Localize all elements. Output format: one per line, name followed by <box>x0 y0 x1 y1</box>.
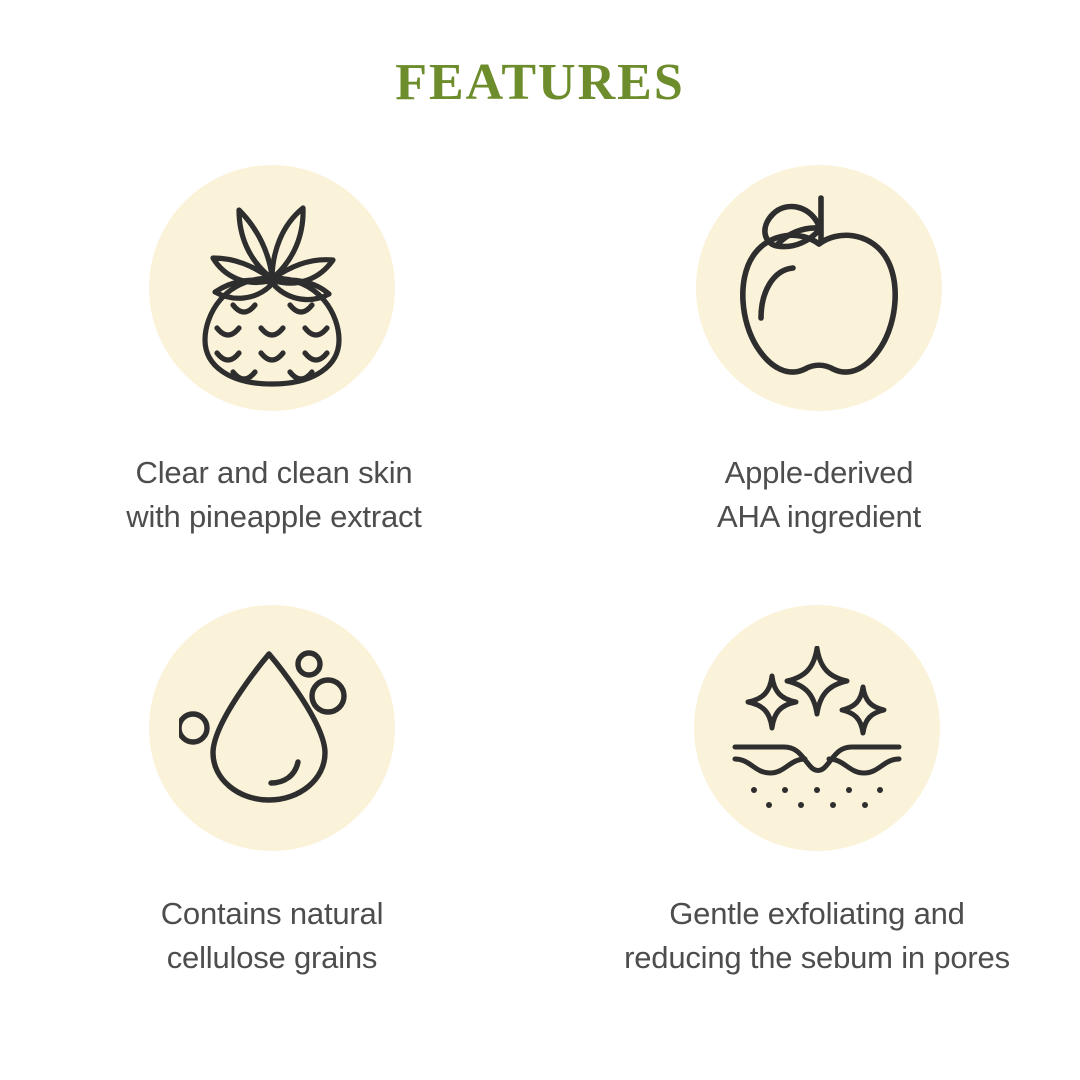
feature-item-pineapple: Clear and clean skin with pineapple extr… <box>0 165 540 605</box>
features-infographic: FEATURES <box>0 0 1080 1080</box>
page-title: FEATURES <box>0 57 1080 109</box>
pineapple-icon <box>177 188 367 388</box>
icon-circle-pineapple <box>149 165 395 411</box>
skin-pores-sparkle-icon <box>732 646 902 810</box>
feature-caption-pineapple: Clear and clean skin with pineapple extr… <box>126 451 421 539</box>
apple-icon <box>721 192 917 384</box>
icon-circle-apple <box>696 165 942 411</box>
icon-circle-droplet <box>149 605 395 851</box>
feature-item-pores: Gentle exfoliating and reducing the sebu… <box>540 605 1080 1045</box>
feature-caption-droplet: Contains natural cellulose grains <box>161 892 384 980</box>
feature-item-apple: Apple-derived AHA ingredient <box>540 165 1080 605</box>
icon-circle-pores <box>694 605 940 851</box>
feature-caption-pores: Gentle exfoliating and reducing the sebu… <box>624 892 1010 980</box>
features-grid: Clear and clean skin with pineapple extr… <box>0 165 1080 1045</box>
feature-item-droplet: Contains natural cellulose grains <box>0 605 540 1045</box>
water-droplet-icon <box>179 650 365 806</box>
feature-caption-apple: Apple-derived AHA ingredient <box>717 451 921 539</box>
